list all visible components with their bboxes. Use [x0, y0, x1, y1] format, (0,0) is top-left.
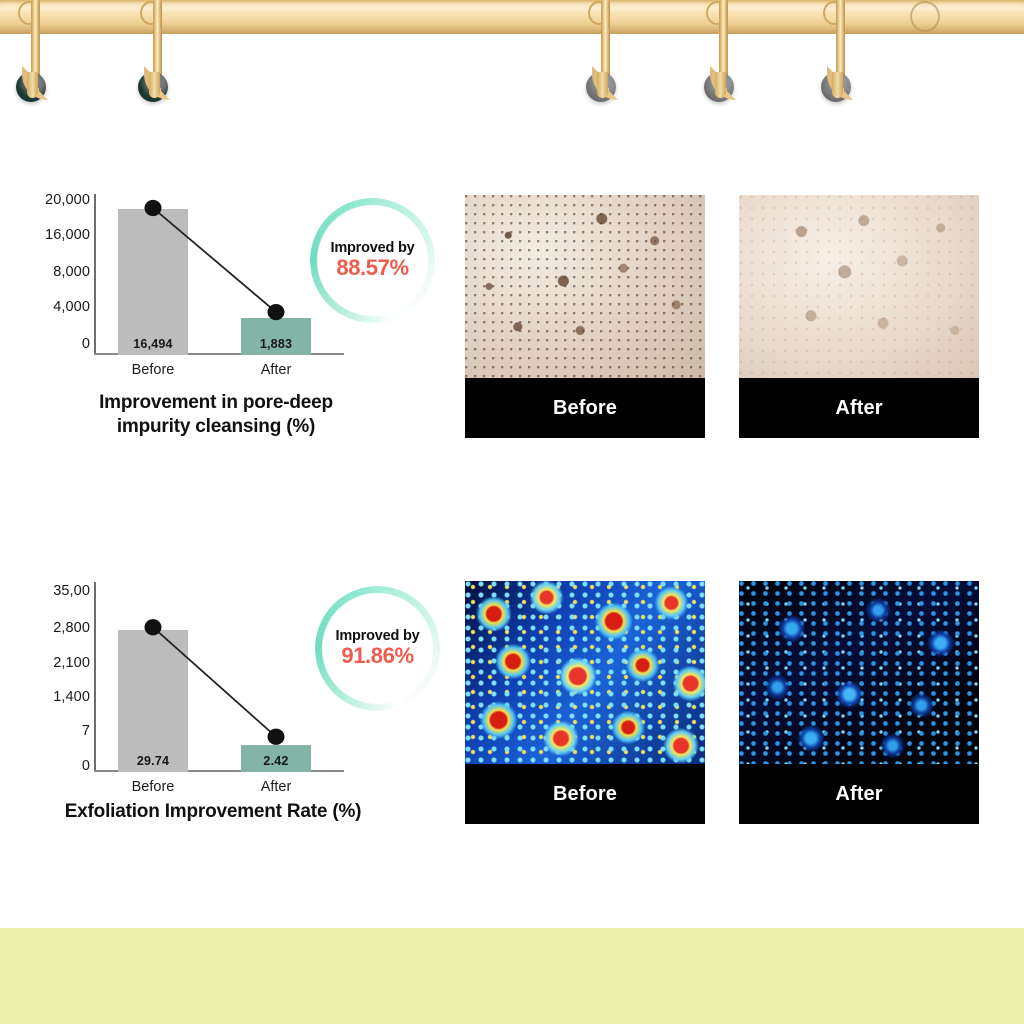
hook-tip-overlay [832, 72, 843, 98]
rod-ring-empty [910, 1, 940, 32]
y-tick: 2,800 [53, 620, 90, 636]
hook-tip-overlay [27, 72, 38, 98]
photo-caption-text: After [835, 783, 882, 806]
y-tick: 4,000 [53, 299, 90, 315]
hero-banner-image [0, 0, 1024, 150]
chart-title-line-1: Exfoliation Improvement Rate (%) [13, 800, 413, 824]
photo-caption-after: After [739, 764, 979, 824]
photo-caption-text: After [835, 397, 882, 420]
badge-value: 88.57% [336, 256, 408, 281]
hook-tip-overlay [597, 72, 608, 98]
skin-photo-before [465, 195, 705, 378]
improvement-badge: Improved by 88.57% [310, 198, 435, 323]
study-row-pore-cleansing: 20,000 16,000 8,000 4,000 0 16,494 1,883… [0, 186, 1024, 446]
chart-plot-area: 20,000 16,000 8,000 4,000 0 16,494 1,883… [28, 186, 358, 356]
hook-3 [584, 0, 630, 108]
x-category-before: Before [132, 779, 175, 795]
y-tick: 20,000 [45, 192, 90, 208]
y-axis-labels: 20,000 16,000 8,000 4,000 0 [28, 186, 90, 356]
bar-value-before: 29.74 [118, 754, 188, 768]
improvement-badge: Improved by 91.86% [315, 586, 440, 711]
badge-text-group: Improved by 88.57% [310, 198, 435, 323]
bar-after: 1,883 [241, 318, 311, 355]
heatmap-photo-after [739, 581, 979, 764]
photo-card-after: After [739, 581, 979, 824]
bar-chart-pore-cleansing: 20,000 16,000 8,000 4,000 0 16,494 1,883… [28, 186, 448, 446]
y-tick: 2,100 [53, 655, 90, 671]
hook-tip-overlay [715, 72, 726, 98]
y-axis-line [94, 582, 96, 772]
bar-value-after: 2.42 [241, 754, 311, 768]
bar-value-before: 16,494 [118, 337, 188, 351]
hook-4 [702, 0, 748, 108]
photo-caption-text: Before [553, 783, 617, 806]
chart-plot-area: 35,00 2,800 2,100 1,400 7 0 29.74 2.42 B… [28, 572, 358, 772]
y-tick: 16,000 [45, 227, 90, 243]
photo-card-after: After [739, 195, 979, 438]
badge-value: 91.86% [341, 644, 413, 669]
hook-1 [14, 0, 60, 108]
photo-caption-after: After [739, 378, 979, 438]
bar-chart-exfoliation: 35,00 2,800 2,100 1,400 7 0 29.74 2.42 B… [28, 572, 448, 837]
y-tick: 1,400 [53, 689, 90, 705]
y-axis-line [94, 194, 96, 355]
y-tick: 35,00 [53, 583, 90, 599]
bar-before: 29.74 [118, 630, 188, 772]
badge-text-group: Improved by 91.86% [315, 586, 440, 711]
chart-title: Improvement in pore-deep impurity cleans… [16, 391, 416, 440]
bar-before: 16,494 [118, 209, 188, 355]
chart-title-line-2: impurity cleansing (%) [16, 415, 416, 439]
x-category-after: After [261, 779, 292, 795]
bar-value-after: 1,883 [241, 337, 311, 351]
hook-2 [136, 0, 182, 108]
chart-title: Exfoliation Improvement Rate (%) [13, 800, 413, 824]
photo-card-before: Before [465, 581, 705, 824]
badge-label: Improved by [335, 628, 419, 644]
heatmap-photo-before [465, 581, 705, 764]
photo-card-before: Before [465, 195, 705, 438]
photo-caption-before: Before [465, 764, 705, 824]
footer-color-band [0, 928, 1024, 1024]
y-tick: 0 [82, 336, 90, 352]
x-category-after: After [261, 362, 292, 378]
x-category-before: Before [132, 362, 175, 378]
y-tick: 0 [82, 758, 90, 774]
skin-photo-after [739, 195, 979, 378]
chart-title-line-1: Improvement in pore-deep [16, 391, 416, 415]
bar-after: 2.42 [241, 745, 311, 772]
badge-label: Improved by [330, 240, 414, 256]
photo-caption-before: Before [465, 378, 705, 438]
y-tick: 7 [82, 723, 90, 739]
hook-tip-overlay [149, 72, 160, 98]
y-tick: 8,000 [53, 264, 90, 280]
study-row-exfoliation: 35,00 2,800 2,100 1,400 7 0 29.74 2.42 B… [0, 572, 1024, 837]
hook-5 [819, 0, 865, 108]
y-axis-labels: 35,00 2,800 2,100 1,400 7 0 [28, 572, 90, 772]
photo-caption-text: Before [553, 397, 617, 420]
